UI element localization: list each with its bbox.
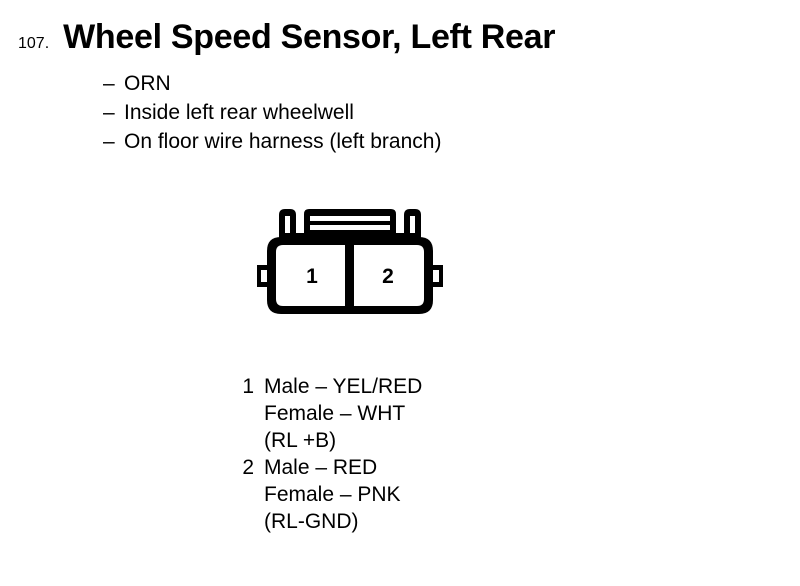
pin-entry: 1 Male – YEL/RED Female – WHT (RL +B) (232, 373, 422, 454)
pin-female-wire: Female – PNK (264, 481, 401, 508)
pin-entry: 2 Male – RED Female – PNK (RL-GND) (232, 454, 422, 535)
pin-male-wire: Male – YEL/RED (264, 373, 422, 400)
pin-female-wire: Female – WHT (264, 400, 422, 427)
connector-diagram: 1 2 (250, 203, 450, 328)
page-title-text: Wheel Speed Sensor, Left Rear (63, 18, 555, 57)
pin-circuit-label: (RL +B) (264, 427, 422, 454)
pin-legend: 1 Male – YEL/RED Female – WHT (RL +B) 2 … (232, 373, 422, 535)
dash-bullet-icon: – (103, 127, 124, 156)
descriptor-item-label: ORN (124, 69, 171, 98)
descriptor-list: – ORN – Inside left rear wheelwell – On … (103, 69, 441, 156)
pin-entry-details: Male – RED Female – PNK (RL-GND) (264, 454, 401, 535)
pin-entry-number: 1 (232, 373, 254, 400)
descriptor-item: – On floor wire harness (left branch) (103, 127, 441, 156)
cavity-divider (345, 237, 354, 314)
descriptor-item: – ORN (103, 69, 441, 98)
pin-entry-details: Male – YEL/RED Female – WHT (RL +B) (264, 373, 422, 454)
page-title: 107. Wheel Speed Sensor, Left Rear (18, 18, 555, 57)
cavity-number-2: 2 (382, 265, 394, 288)
dash-bullet-icon: – (103, 98, 124, 127)
descriptor-item: – Inside left rear wheelwell (103, 98, 441, 127)
descriptor-item-label: Inside left rear wheelwell (124, 98, 354, 127)
pin-male-wire: Male – RED (264, 454, 401, 481)
cavity-number-1: 1 (306, 265, 318, 288)
pin-circuit-label: (RL-GND) (264, 508, 401, 535)
pin-entry-number: 2 (232, 454, 254, 481)
page-title-number: 107. (18, 35, 49, 53)
descriptor-item-label: On floor wire harness (left branch) (124, 127, 441, 156)
dash-bullet-icon: – (103, 69, 124, 98)
